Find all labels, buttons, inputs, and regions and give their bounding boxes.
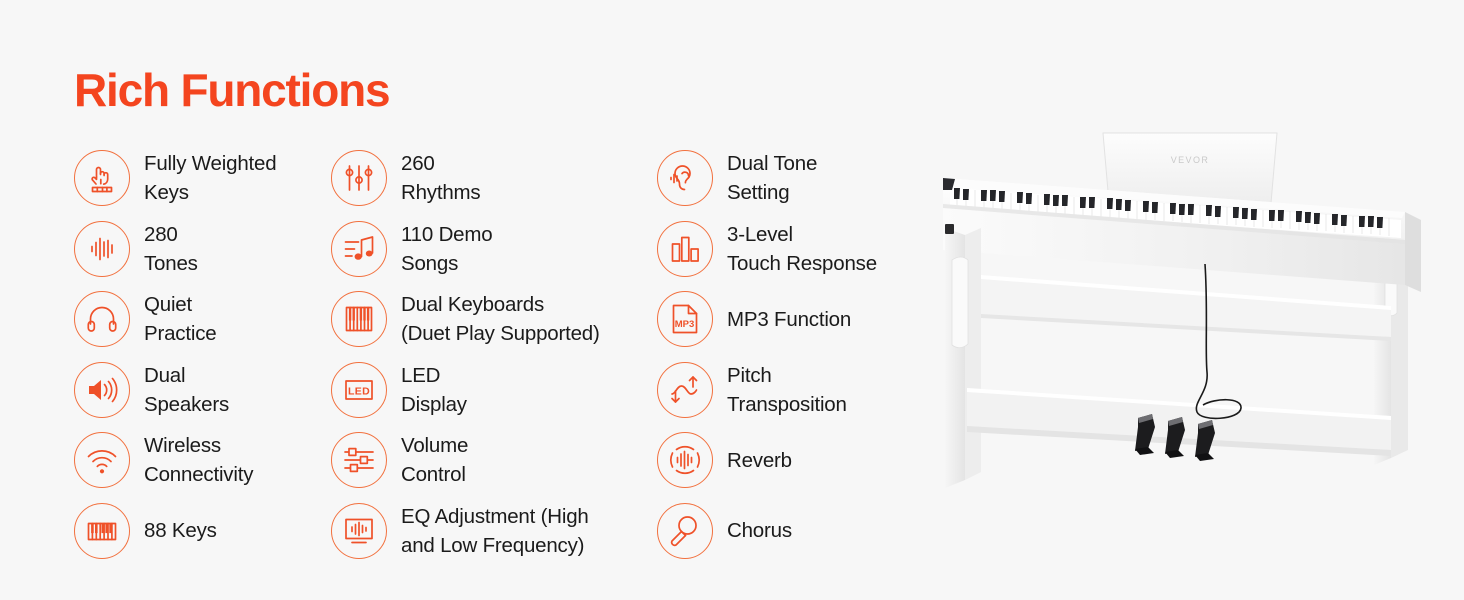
wireless-wifi-icon bbox=[74, 432, 130, 488]
label-line: 88 Keys bbox=[144, 516, 217, 545]
feature-3-level-touch-response: 3-Level Touch Response bbox=[657, 214, 927, 285]
label-line: Wireless bbox=[144, 431, 253, 460]
label-line: Volume bbox=[401, 431, 468, 460]
label-line: Quiet bbox=[144, 290, 216, 319]
feature-label: Pitch Transposition bbox=[727, 361, 847, 419]
feature-label: 88 Keys bbox=[144, 516, 217, 545]
feature-label: MP3 Function bbox=[727, 305, 851, 334]
feature-volume-control: Volume Control bbox=[331, 425, 651, 496]
label-line: Control bbox=[401, 460, 468, 489]
led-display-icon: LED bbox=[331, 362, 387, 418]
brand-label: VEVOR bbox=[1171, 155, 1210, 165]
feature-88-keys: 88 Keys bbox=[74, 496, 334, 567]
label-line: MP3 Function bbox=[727, 305, 851, 334]
label-line: Touch Response bbox=[727, 249, 877, 278]
sound-wave-icon bbox=[74, 221, 130, 277]
feature-mp3-function: MP3 MP3 Function bbox=[657, 284, 927, 355]
feature-label: Dual Keyboards (Duet Play Supported) bbox=[401, 290, 600, 348]
label-line: LED bbox=[401, 361, 467, 390]
product-photo-white-digital-piano: VEVOR bbox=[905, 120, 1450, 520]
label-line: Keys bbox=[144, 178, 276, 207]
bar-levels-icon bbox=[657, 221, 713, 277]
label-line: Reverb bbox=[727, 446, 792, 475]
label-line: Speakers bbox=[144, 390, 229, 419]
label-line: Dual bbox=[144, 361, 229, 390]
feature-column-3: Dual Tone Setting 3-Level bbox=[657, 143, 927, 566]
feature-fully-weighted-keys: Fully Weighted Keys bbox=[74, 143, 334, 214]
feature-label: Reverb bbox=[727, 446, 792, 475]
equalizer-screen-icon bbox=[331, 503, 387, 559]
dual-keyboard-icon bbox=[331, 291, 387, 347]
label-line: Songs bbox=[401, 249, 492, 278]
feature-label: Dual Speakers bbox=[144, 361, 229, 419]
feature-dual-tone-setting: Dual Tone Setting bbox=[657, 143, 927, 214]
feature-label: EQ Adjustment (High and Low Frequency) bbox=[401, 502, 589, 560]
label-line: Connectivity bbox=[144, 460, 253, 489]
hand-press-keys-icon bbox=[74, 150, 130, 206]
feature-label: Dual Tone Setting bbox=[727, 149, 817, 207]
feature-280-tones: 280 Tones bbox=[74, 214, 334, 285]
feature-label: Volume Control bbox=[401, 431, 468, 489]
pitch-updown-icon bbox=[657, 362, 713, 418]
label-line: Tones bbox=[144, 249, 198, 278]
feature-label: 280 Tones bbox=[144, 220, 198, 278]
feature-pitch-transposition: Pitch Transposition bbox=[657, 355, 927, 426]
feature-led-display: LED LED Display bbox=[331, 355, 651, 426]
feature-label: 3-Level Touch Response bbox=[727, 220, 877, 278]
svg-text:MP3: MP3 bbox=[675, 319, 695, 330]
label-line: and Low Frequency) bbox=[401, 531, 589, 560]
feature-260-rhythms: 260 Rhythms bbox=[331, 143, 651, 214]
feature-label: 110 Demo Songs bbox=[401, 220, 492, 278]
svg-text:LED: LED bbox=[348, 385, 370, 397]
feature-label: Quiet Practice bbox=[144, 290, 216, 348]
feature-dual-keyboards: Dual Keyboards (Duet Play Supported) bbox=[331, 284, 651, 355]
label-line: Rhythms bbox=[401, 178, 480, 207]
feature-eq-adjustment: EQ Adjustment (High and Low Frequency) bbox=[331, 496, 651, 567]
feature-label: Chorus bbox=[727, 516, 792, 545]
feature-column-2: 260 Rhythms bbox=[331, 143, 651, 566]
feature-label: Fully Weighted Keys bbox=[144, 149, 276, 207]
label-line: 280 bbox=[144, 220, 198, 249]
feature-dual-speakers: Dual Speakers bbox=[74, 355, 334, 426]
ear-soundwave-icon bbox=[657, 150, 713, 206]
headphones-icon bbox=[74, 291, 130, 347]
label-line: Fully Weighted bbox=[144, 149, 276, 178]
pedal-cable bbox=[1196, 264, 1241, 418]
label-line: Pitch bbox=[727, 361, 847, 390]
feature-reverb: Reverb bbox=[657, 425, 927, 496]
piano-keys-icon bbox=[74, 503, 130, 559]
feature-label: LED Display bbox=[401, 361, 467, 419]
sliders-horizontal-icon bbox=[331, 432, 387, 488]
label-line: 3-Level bbox=[727, 220, 877, 249]
label-line: (Duet Play Supported) bbox=[401, 319, 600, 348]
stand-crossbar bbox=[981, 275, 1391, 341]
stand-left-leg bbox=[945, 224, 981, 488]
label-line: Dual Keyboards bbox=[401, 290, 600, 319]
feature-wireless-connectivity: Wireless Connectivity bbox=[74, 425, 334, 496]
label-line: Display bbox=[401, 390, 467, 419]
speaker-icon bbox=[74, 362, 130, 418]
mp3-file-icon: MP3 bbox=[657, 291, 713, 347]
label-line: Transposition bbox=[727, 390, 847, 419]
label-line: Chorus bbox=[727, 516, 792, 545]
feature-chorus: Chorus bbox=[657, 496, 927, 567]
reverb-waves-icon bbox=[657, 432, 713, 488]
label-line: Practice bbox=[144, 319, 216, 348]
music-note-list-icon bbox=[331, 221, 387, 277]
label-line: Dual Tone bbox=[727, 149, 817, 178]
label-line: 110 Demo bbox=[401, 220, 492, 249]
feature-label: 260 Rhythms bbox=[401, 149, 480, 207]
feature-110-demo-songs: 110 Demo Songs bbox=[331, 214, 651, 285]
page-title: Rich Functions bbox=[74, 66, 389, 114]
feature-label: Wireless Connectivity bbox=[144, 431, 253, 489]
feature-quiet-practice: Quiet Practice bbox=[74, 284, 334, 355]
label-line: Setting bbox=[727, 178, 817, 207]
label-line: EQ Adjustment (High bbox=[401, 502, 589, 531]
sliders-vertical-icon bbox=[331, 150, 387, 206]
feature-columns: Fully Weighted Keys bbox=[0, 143, 930, 573]
microphone-icon bbox=[657, 503, 713, 559]
infographic-page: Rich Functions bbox=[0, 0, 1464, 600]
label-line: 260 bbox=[401, 149, 480, 178]
feature-column-1: Fully Weighted Keys bbox=[74, 143, 334, 566]
